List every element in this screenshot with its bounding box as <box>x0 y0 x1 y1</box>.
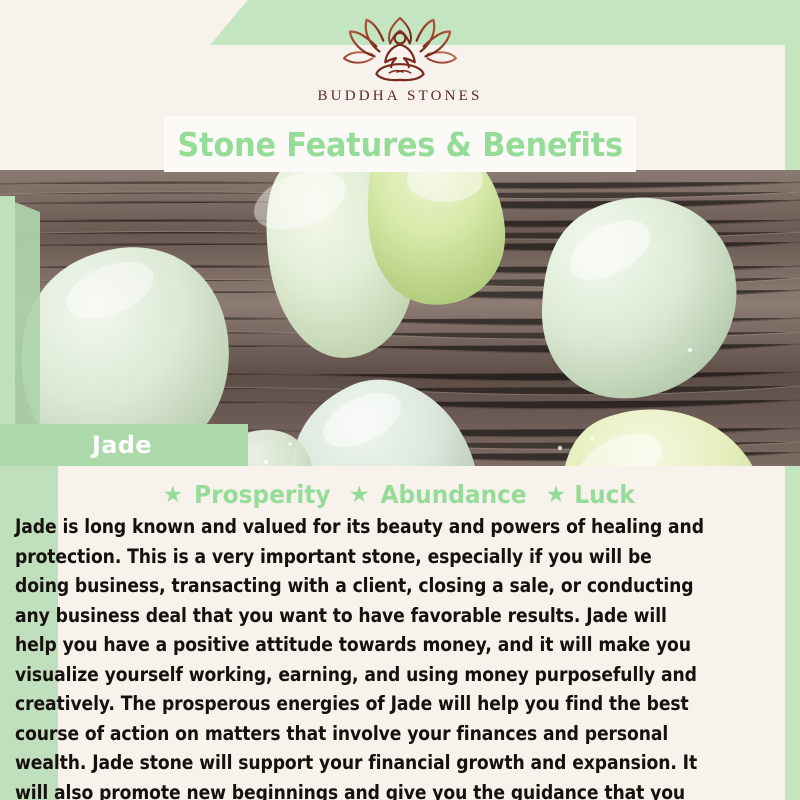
benefit-label: Abundance <box>381 480 527 509</box>
stone-infographic: BUDDHA STONES Stone Features & Benefits <box>0 0 800 800</box>
benefit-label: Luck <box>575 480 636 509</box>
benefit-label: Prosperity <box>194 480 330 509</box>
benefit-item-prosperity: ★ Prosperity <box>163 480 336 509</box>
stone-name: Jade <box>92 431 152 459</box>
stone-photo <box>0 170 800 466</box>
title-banner: Stone Features & Benefits <box>164 116 636 172</box>
star-icon: ★ <box>163 483 184 506</box>
lotus-meditation-icon <box>341 16 459 82</box>
brand-name: BUDDHA STONES <box>317 88 482 105</box>
stone-description: Jade is long known and valued for its be… <box>15 512 709 800</box>
page-title: Stone Features & Benefits <box>177 125 623 164</box>
benefit-item-abundance: ★ Abundance <box>349 480 533 509</box>
stone-name-banner: Jade <box>0 424 248 466</box>
star-icon: ★ <box>349 483 370 506</box>
benefits-row: ★ Prosperity ★ Abundance ★ Luck <box>0 477 800 511</box>
brand-header: BUDDHA STONES <box>0 0 800 120</box>
star-icon: ★ <box>546 483 567 506</box>
benefit-item-luck: ★ Luck <box>546 480 638 509</box>
